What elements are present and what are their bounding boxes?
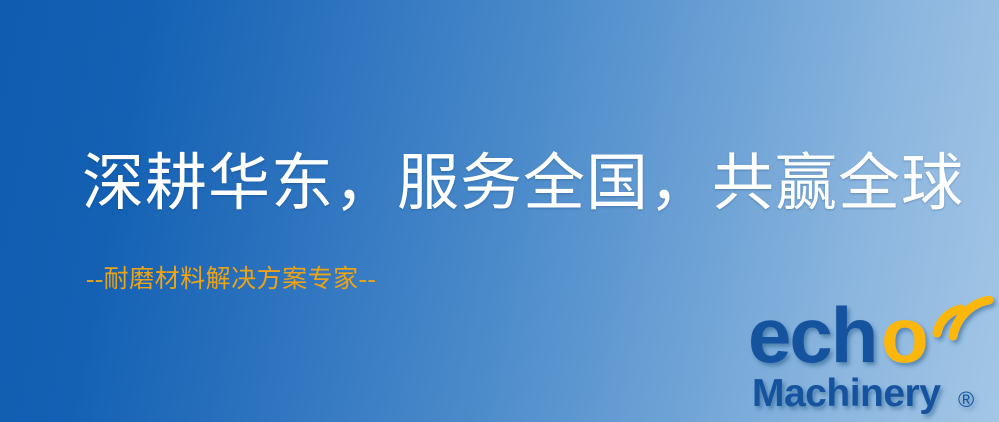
- logo-wordmark-ech: ech: [748, 296, 876, 379]
- banner-headline: 深耕华东，服务全国，共赢全球: [82, 152, 964, 217]
- logo-tagline: Machinery: [752, 372, 941, 415]
- logo-artwork: ech o Machinery ®: [748, 296, 999, 422]
- logo-wordmark-o: o: [881, 296, 929, 379]
- signal-arcs-icon: [937, 300, 989, 336]
- promo-banner: 深耕华东，服务全国，共赢全球 --耐磨材料解决方案专家-- ech o Mach…: [0, 0, 999, 422]
- banner-subtitle: --耐磨材料解决方案专家--: [86, 266, 376, 294]
- logo-registered-mark: ®: [958, 387, 974, 412]
- company-logo: ech o Machinery ®: [748, 296, 999, 422]
